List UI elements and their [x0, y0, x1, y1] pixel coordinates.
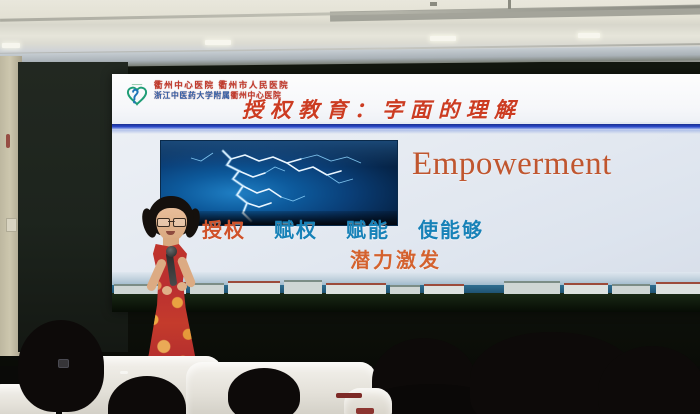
keyword-qianli-jifa: 潜力激发 — [350, 244, 442, 273]
campus-building — [424, 284, 464, 294]
chair-highlight — [120, 371, 128, 374]
wall-switch[interactable] — [6, 218, 17, 232]
hospital-name-line-1: 衢州中心医院 衢州市人民医院 — [154, 80, 289, 91]
campus-building — [228, 281, 280, 294]
header-divider-glow — [112, 130, 700, 134]
ceiling-light — [578, 33, 600, 38]
keyword-shinenggou: 使能够 — [418, 214, 484, 243]
campus-building — [504, 281, 560, 294]
keyword-funeng: 赋能 — [346, 214, 390, 243]
hospital-heart-logo — [124, 82, 150, 108]
slide-title: 授权教育：字面的理解 — [242, 94, 522, 124]
seat-trim — [336, 393, 362, 398]
keyword-fuquan: 赋权 — [274, 214, 318, 243]
glasses-icon — [157, 218, 186, 225]
campus-building — [390, 285, 420, 294]
microphone-head — [166, 246, 177, 257]
campus-building — [612, 284, 650, 294]
ceiling-fitting — [508, 0, 511, 9]
ceiling-light — [205, 40, 231, 45]
campus-building — [656, 282, 700, 294]
keyword-row: 授权 赋权 赋能 使能够 — [202, 214, 700, 243]
presenter-hand-right — [177, 282, 187, 291]
campus-building — [564, 283, 608, 294]
slide-header: 衢州中心医院 衢州市人民医院 浙江中医药大学附属衢州中心医院 授权教育：字面的理… — [112, 74, 700, 122]
ceiling-light — [430, 36, 456, 41]
audience-row — [0, 304, 700, 414]
empowerment-heading: Empowerment — [412, 146, 612, 183]
audience-glasses-icon — [58, 359, 69, 368]
ceiling-fitting — [430, 2, 437, 6]
ceiling-light — [2, 43, 20, 48]
audience-head — [228, 368, 300, 414]
presentation-photo: 衢州中心医院 衢州市人民医院 浙江中医药大学附属衢州中心医院 授权教育：字面的理… — [0, 0, 700, 414]
campus-building — [284, 280, 322, 294]
presenter-hand-left — [162, 286, 172, 295]
seat-trim — [356, 408, 374, 414]
wall-hook — [6, 134, 10, 148]
campus-building — [326, 283, 386, 294]
